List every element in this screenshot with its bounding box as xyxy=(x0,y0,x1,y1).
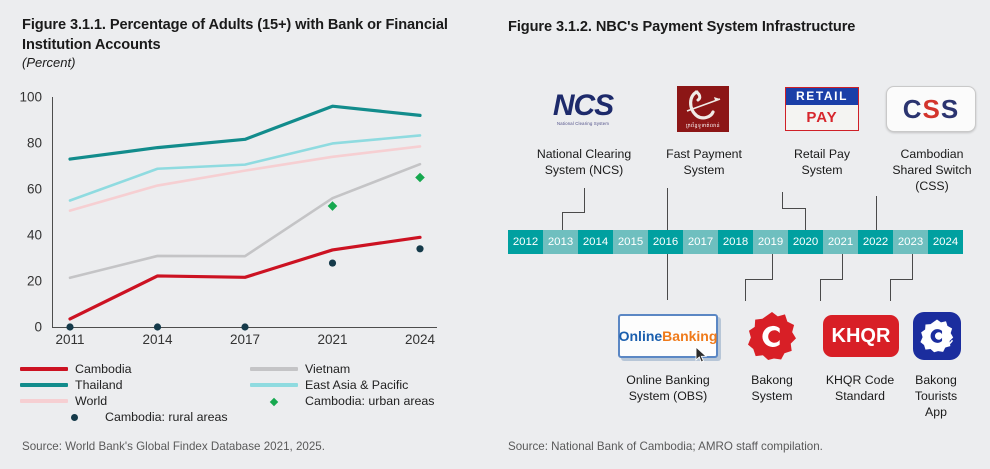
caption-line: Shared Switch xyxy=(873,162,990,178)
caption-retail-pay: Retail PaySystem xyxy=(759,146,885,178)
timeline-year-2022[interactable]: 2022 xyxy=(858,230,893,254)
timeline-year-2014[interactable]: 2014 xyxy=(578,230,613,254)
legend-item-cambodia-urban: Cambodia: urban areas xyxy=(250,394,435,408)
caption-line: System (OBS) xyxy=(603,388,733,404)
source-note-left: Source: World Bank's Global Findex Datab… xyxy=(22,440,325,453)
retail-pay-logo: RETAIL PAY xyxy=(785,87,859,131)
marker-cambodia-urban-areas xyxy=(328,201,338,211)
caption-ncs: National ClearingSystem (NCS) xyxy=(505,146,663,178)
khqr-logo-text: KHQR xyxy=(832,325,891,348)
timeline-year-2019[interactable]: 2019 xyxy=(753,230,788,254)
timeline-year-2023[interactable]: 2023 xyxy=(893,230,928,254)
x-tick-label: 2017 xyxy=(230,332,260,347)
timeline-year-2024[interactable]: 2024 xyxy=(928,230,963,254)
legend-item-east-asia-pacific: East Asia & Pacific xyxy=(250,378,408,392)
legend-item-cambodia-rural: Cambodia: rural areas xyxy=(50,410,228,424)
caption-line: Bakong xyxy=(887,372,985,388)
legend-swatch-thailand xyxy=(20,383,68,386)
css-logo-cell: CSS xyxy=(877,78,985,140)
bakong-star-icon xyxy=(919,318,955,354)
caption-line: Retail Pay xyxy=(759,146,885,162)
y-tick-label: 0 xyxy=(12,320,42,335)
figure-3-1-1-panel: Figure 3.1.1. Percentage of Adults (15+)… xyxy=(0,0,495,469)
caption-line: Online Banking xyxy=(603,372,733,388)
y-axis-labels: 020406080100 xyxy=(12,86,42,336)
y-tick-label: 40 xyxy=(12,228,42,243)
caption-css: CambodianShared Switch(CSS) xyxy=(873,146,990,194)
caption-line: System xyxy=(759,162,885,178)
y-tick-label: 20 xyxy=(12,274,42,289)
bow-arrow-icon xyxy=(683,89,723,123)
ncs-logo: NCS National Clearing System xyxy=(553,91,613,126)
legend-swatch-world xyxy=(20,399,68,402)
css-logo-letter-c: C xyxy=(903,94,923,125)
ncs-logo-text: NCS xyxy=(553,89,613,122)
y-tick-label: 80 xyxy=(12,136,42,151)
marker-cambodia-rural-areas xyxy=(154,323,161,330)
marker-cambodia-urban-areas xyxy=(415,173,425,183)
source-note-right: Source: National Bank of Cambodia; AMRO … xyxy=(508,440,823,453)
timeline-year-2018[interactable]: 2018 xyxy=(718,230,753,254)
legend-item-world: World xyxy=(20,394,107,408)
caption-line: Tourists xyxy=(887,388,985,404)
legend-label: Vietnam xyxy=(305,362,350,376)
fast-payment-logo: ភ្រព័ន្ធទូទាត់លាន់ xyxy=(677,86,729,132)
legend-swatch-vietnam xyxy=(250,367,298,370)
online-banking-logo: OnlineBanking xyxy=(618,314,718,358)
timeline-year-2017[interactable]: 2017 xyxy=(683,230,718,254)
line-chart: 020406080100 20112014201720212024 xyxy=(0,86,470,361)
x-tick-label: 2014 xyxy=(142,332,172,347)
legend-swatch-cambodia-rural xyxy=(50,410,98,424)
legend-swatch-cambodia xyxy=(20,367,68,370)
legend-label: World xyxy=(75,394,107,408)
y-tick-label: 60 xyxy=(12,182,42,197)
y-tick-label: 100 xyxy=(12,90,42,105)
obs-logo-text-online: Online xyxy=(619,328,663,344)
series-line-east-asia-pacific xyxy=(70,135,420,200)
css-logo-letter-s1: S xyxy=(923,94,941,125)
legend-swatch-east-asia-pacific xyxy=(250,383,298,386)
timeline-year-2015[interactable]: 2015 xyxy=(613,230,648,254)
legend-label: Cambodia: urban areas xyxy=(305,394,435,408)
caption-line: Fast Payment xyxy=(641,146,767,162)
page-title-right: Figure 3.1.2. NBC's Payment System Infra… xyxy=(508,17,978,37)
caption-line: National Clearing xyxy=(505,146,663,162)
fast-payment-logo-subtext: ភ្រព័ន្ធទូទាត់លាន់ xyxy=(686,123,720,130)
chart-svg xyxy=(52,86,442,336)
legend-item-thailand: Thailand xyxy=(20,378,123,392)
marker-cambodia-rural-areas xyxy=(416,245,423,252)
caption-line: App xyxy=(887,404,985,420)
timeline: 2012201320142015201620172018201920202021… xyxy=(508,230,963,254)
marker-cambodia-rural-areas xyxy=(66,323,73,330)
caption-online-banking: Online BankingSystem (OBS) xyxy=(603,372,733,404)
timeline-year-2013[interactable]: 2013 xyxy=(543,230,578,254)
legend-item-cambodia: Cambodia xyxy=(20,362,131,376)
bakong-logo xyxy=(748,312,796,360)
ncs-logo-subtext: National Clearing System xyxy=(553,122,613,126)
caption-line: System xyxy=(641,162,767,178)
legend-swatch-cambodia-urban xyxy=(250,394,298,408)
caption-fast-payment: Fast PaymentSystem xyxy=(641,146,767,178)
bottom-logo-row: OnlineBanking KHQR xyxy=(495,308,990,364)
legend-label: Cambodia xyxy=(75,362,131,376)
legend-label: Cambodia: rural areas xyxy=(105,410,228,424)
caption-line: System (NCS) xyxy=(505,162,663,178)
legend-label: East Asia & Pacific xyxy=(305,378,408,392)
page-title: Figure 3.1.1. Percentage of Adults (15+)… xyxy=(22,15,477,55)
timeline-year-2012[interactable]: 2012 xyxy=(508,230,543,254)
timeline-year-2016[interactable]: 2016 xyxy=(648,230,683,254)
x-tick-label: 2024 xyxy=(405,332,435,347)
retail-pay-logo-text: RETAIL xyxy=(786,88,858,105)
series-line-world xyxy=(70,146,420,210)
ncs-logo-cell: NCS National Clearing System xyxy=(513,78,653,140)
obs-logo-text-banking: Banking xyxy=(662,328,717,344)
plot-area xyxy=(52,86,442,336)
x-tick-label: 2011 xyxy=(55,332,84,347)
retail-pay-logo-cell: RETAIL PAY xyxy=(763,78,881,140)
legend-item-vietnam: Vietnam xyxy=(250,362,350,376)
css-logo-letter-s2: S xyxy=(941,94,959,125)
retail-pay-logo-subtext: PAY xyxy=(786,105,858,130)
figure-subtitle: (Percent) xyxy=(22,55,75,70)
fast-payment-logo-cell: ភ្រព័ន្ធទូទាត់លាន់ xyxy=(643,78,763,140)
timeline-year-2021[interactable]: 2021 xyxy=(823,230,858,254)
bakong-tourists-app-logo-cell xyxy=(885,308,989,364)
timeline-year-2020[interactable]: 2020 xyxy=(788,230,823,254)
legend-label: Thailand xyxy=(75,378,123,392)
marker-cambodia-rural-areas xyxy=(241,323,248,330)
caption-bakong-tourists: BakongTouristsApp xyxy=(887,372,985,420)
cursor-icon xyxy=(695,347,708,363)
top-logo-row: NCS National Clearing System ភ្រព័ន្ធទូទ… xyxy=(495,78,990,140)
chart-legend: Cambodia Thailand World Cambodia: rural … xyxy=(14,362,484,422)
series-line-thailand xyxy=(70,106,420,159)
caption-line: (CSS) xyxy=(873,178,990,194)
online-banking-logo-cell: OnlineBanking xyxy=(605,308,731,364)
caption-line: Cambodian xyxy=(873,146,990,162)
figure-3-1-2-panel: Figure 3.1.2. NBC's Payment System Infra… xyxy=(495,0,990,469)
x-tick-label: 2021 xyxy=(317,332,347,347)
marker-cambodia-rural-areas xyxy=(329,259,336,266)
series-line-cambodia xyxy=(70,237,420,319)
bakong-tourists-app-logo xyxy=(913,312,961,360)
css-logo: CSS xyxy=(886,86,976,132)
x-axis-labels: 20112014201720212024 xyxy=(52,332,442,352)
